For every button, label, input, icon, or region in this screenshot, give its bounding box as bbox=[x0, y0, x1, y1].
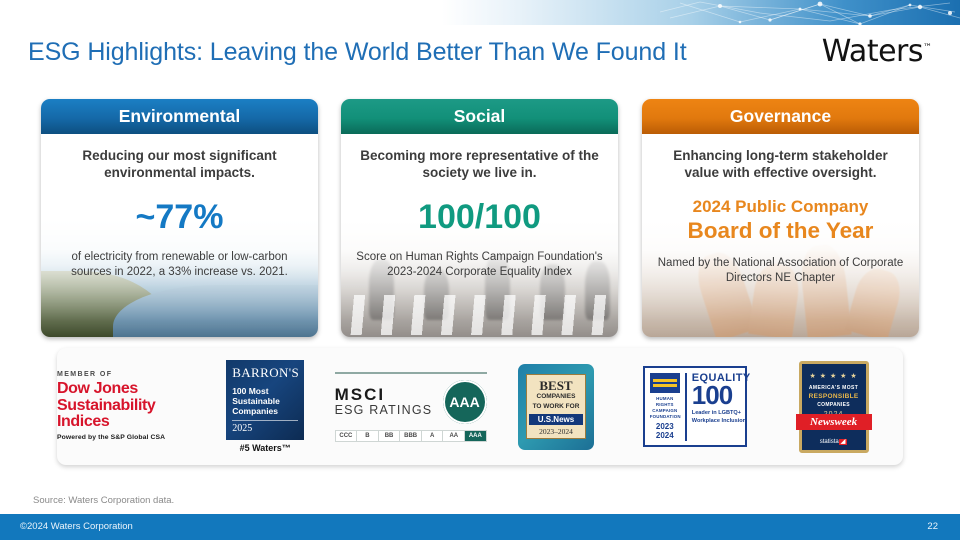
award-djsi: MEMBER OF Dow Jones Sustainability Indic… bbox=[57, 348, 196, 465]
usnews-badge: BEST COMPANIES TO WORK FOR U.S.News 2023… bbox=[518, 364, 594, 450]
card-body-governance: Enhancing long-term stakeholder value wi… bbox=[642, 134, 919, 337]
slide: ESG Highlights: Leaving the World Better… bbox=[0, 0, 960, 540]
network-pattern-icon bbox=[660, 0, 960, 25]
msci-rating-scale: CCC B BB BBB A AA AAA bbox=[335, 430, 487, 442]
card-body-environmental: Reducing our most significant environmen… bbox=[41, 134, 318, 337]
card-award-line2: Board of the Year bbox=[656, 216, 905, 244]
award-hrc-equality: HUMAN RIGHTS CAMPAIGN FOUNDATION 2023 20… bbox=[625, 348, 764, 465]
card-text-governance: Enhancing long-term stakeholder value wi… bbox=[642, 134, 919, 287]
msci-rating-badge: AAA bbox=[443, 380, 487, 424]
card-lead-environmental: Reducing our most significant environmen… bbox=[55, 134, 304, 182]
usnews-line1: BEST bbox=[529, 379, 583, 392]
card-header-environmental: Environmental bbox=[41, 99, 318, 134]
usnews-shield: BEST COMPANIES TO WORK FOR U.S.News 2023… bbox=[526, 374, 586, 438]
barrons-line3: Companies bbox=[232, 406, 298, 416]
msci-scale-step: BB bbox=[379, 431, 401, 441]
statista-label: statista bbox=[820, 439, 839, 445]
award-usnews: BEST COMPANIES TO WORK FOR U.S.News 2023… bbox=[487, 348, 626, 465]
msci-scale-step: BBB bbox=[400, 431, 422, 441]
newsweek-line2: RESPONSIBLE bbox=[807, 393, 861, 400]
card-body-social: Becoming more representative of the soci… bbox=[341, 134, 618, 337]
card-text-environmental: Reducing our most significant environmen… bbox=[41, 134, 318, 280]
djsi-line1: Dow Jones bbox=[57, 381, 196, 397]
card-header-governance: Governance bbox=[642, 99, 919, 134]
msci-scale-step: CCC bbox=[336, 431, 358, 441]
msci-scale-step-active: AAA bbox=[465, 431, 486, 441]
waters-logo-text: Waters bbox=[822, 34, 923, 69]
card-stat-environmental: ~77% bbox=[55, 182, 304, 234]
esg-cards: Environmental Reducing our most signific… bbox=[41, 99, 919, 337]
statista-mark: ◢ bbox=[839, 439, 848, 445]
trademark-symbol: ™ bbox=[923, 43, 932, 53]
msci-logo: MSCI ESG RATINGS AAA CCC B BB BBB A AA A… bbox=[335, 372, 487, 442]
photo-crosswalk-stripes bbox=[341, 295, 618, 335]
usnews-publisher: U.S.News bbox=[529, 414, 583, 425]
award-newsweek: ★ ★ ★ ★ ★ AMERICA'S MOST RESPONSIBLE COM… bbox=[764, 348, 903, 465]
card-header-social: Social bbox=[341, 99, 618, 134]
header-decoration-band bbox=[0, 0, 960, 25]
barrons-brand: BARRON'S bbox=[232, 365, 298, 381]
newsweek-line1: AMERICA'S MOST bbox=[807, 385, 861, 391]
hrc-equal-sign-icon bbox=[650, 373, 680, 393]
msci-brand: MSCI bbox=[335, 386, 433, 404]
card-governance: Governance Enhancing long-term stakehold… bbox=[642, 99, 919, 337]
hrc-note: Leader in LGBTQ+ Workplace Inclusion bbox=[692, 410, 751, 425]
slide-footer: ©2024 Waters Corporation 22 bbox=[0, 514, 960, 540]
hrc-left: HUMAN RIGHTS CAMPAIGN FOUNDATION 2023 20… bbox=[650, 373, 680, 440]
page-number: 22 bbox=[927, 521, 938, 532]
page-title: ESG Highlights: Leaving the World Better… bbox=[28, 38, 687, 67]
djsi-logo: MEMBER OF Dow Jones Sustainability Indic… bbox=[57, 371, 196, 442]
awards-strip: MEMBER OF Dow Jones Sustainability Indic… bbox=[57, 348, 903, 465]
djsi-member-label: MEMBER OF bbox=[57, 371, 196, 378]
barrons-line2: Sustainable bbox=[232, 396, 298, 406]
djsi-powered-by: Powered by the S&P Global CSA bbox=[57, 435, 196, 442]
card-stat-social: 100/100 bbox=[355, 182, 604, 234]
waters-logo: Waters™ bbox=[822, 37, 932, 67]
msci-scale-step: A bbox=[422, 431, 444, 441]
barrons-logo: BARRON'S 100 Most Sustainable Companies … bbox=[226, 360, 304, 454]
source-note: Source: Waters Corporation data. bbox=[33, 495, 174, 506]
photo-lake-shape bbox=[113, 285, 318, 337]
card-lead-governance: Enhancing long-term stakeholder value wi… bbox=[656, 134, 905, 182]
award-msci: MSCI ESG RATINGS AAA CCC B BB BBB A AA A… bbox=[335, 348, 487, 465]
barrons-caption: #5 Waters™ bbox=[226, 443, 304, 453]
hrc-right: EQUALITY 100 Leader in LGBTQ+ Workplace … bbox=[685, 373, 751, 440]
hrc-score: 100 bbox=[692, 384, 751, 408]
usnews-line2: COMPANIES bbox=[529, 393, 583, 401]
copyright-text: ©2024 Waters Corporation bbox=[20, 521, 133, 532]
card-sub-governance: Named by the National Association of Cor… bbox=[656, 244, 905, 286]
card-sub-environmental: of electricity from renewable or low-car… bbox=[55, 234, 304, 280]
barrons-box: BARRON'S 100 Most Sustainable Companies … bbox=[226, 360, 304, 441]
usnews-line3: TO WORK FOR bbox=[529, 403, 583, 411]
hrc-org-label: HUMAN RIGHTS CAMPAIGN FOUNDATION bbox=[650, 396, 680, 420]
msci-scale-step: B bbox=[357, 431, 379, 441]
barrons-year: 2025 bbox=[232, 420, 298, 434]
barrons-lines: 100 Most Sustainable Companies bbox=[232, 386, 298, 417]
card-sub-social: Score on Human Rights Campaign Foundatio… bbox=[355, 234, 604, 280]
newsweek-badge: ★ ★ ★ ★ ★ AMERICA'S MOST RESPONSIBLE COM… bbox=[799, 361, 869, 453]
djsi-line2: Sustainability Indices bbox=[57, 398, 196, 430]
newsweek-partner: statista◢ bbox=[802, 438, 866, 445]
barrons-line1: 100 Most bbox=[232, 386, 298, 396]
award-barrons: BARRON'S 100 Most Sustainable Companies … bbox=[196, 348, 335, 465]
newsweek-brand: Newsweek bbox=[796, 414, 872, 430]
hrc-year2: 2024 bbox=[650, 432, 680, 441]
stars-icon: ★ ★ ★ ★ ★ bbox=[807, 372, 861, 380]
card-environmental: Environmental Reducing our most signific… bbox=[41, 99, 318, 337]
msci-subtitle: ESG RATINGS bbox=[335, 403, 433, 417]
card-text-social: Becoming more representative of the soci… bbox=[341, 134, 618, 280]
card-social: Social Becoming more representative of t… bbox=[341, 99, 618, 337]
msci-text: MSCI ESG RATINGS bbox=[335, 386, 433, 418]
card-award-line1: 2024 Public Company bbox=[656, 182, 905, 217]
hrc-badge: HUMAN RIGHTS CAMPAIGN FOUNDATION 2023 20… bbox=[643, 366, 747, 446]
usnews-years: 2023–2024 bbox=[529, 427, 583, 436]
newsweek-line3: COMPANIES bbox=[807, 402, 861, 408]
photo-land-shape bbox=[41, 271, 174, 337]
msci-rule bbox=[335, 372, 487, 374]
msci-scale-step: AA bbox=[443, 431, 465, 441]
card-lead-social: Becoming more representative of the soci… bbox=[355, 134, 604, 182]
msci-row: MSCI ESG RATINGS AAA bbox=[335, 380, 487, 424]
